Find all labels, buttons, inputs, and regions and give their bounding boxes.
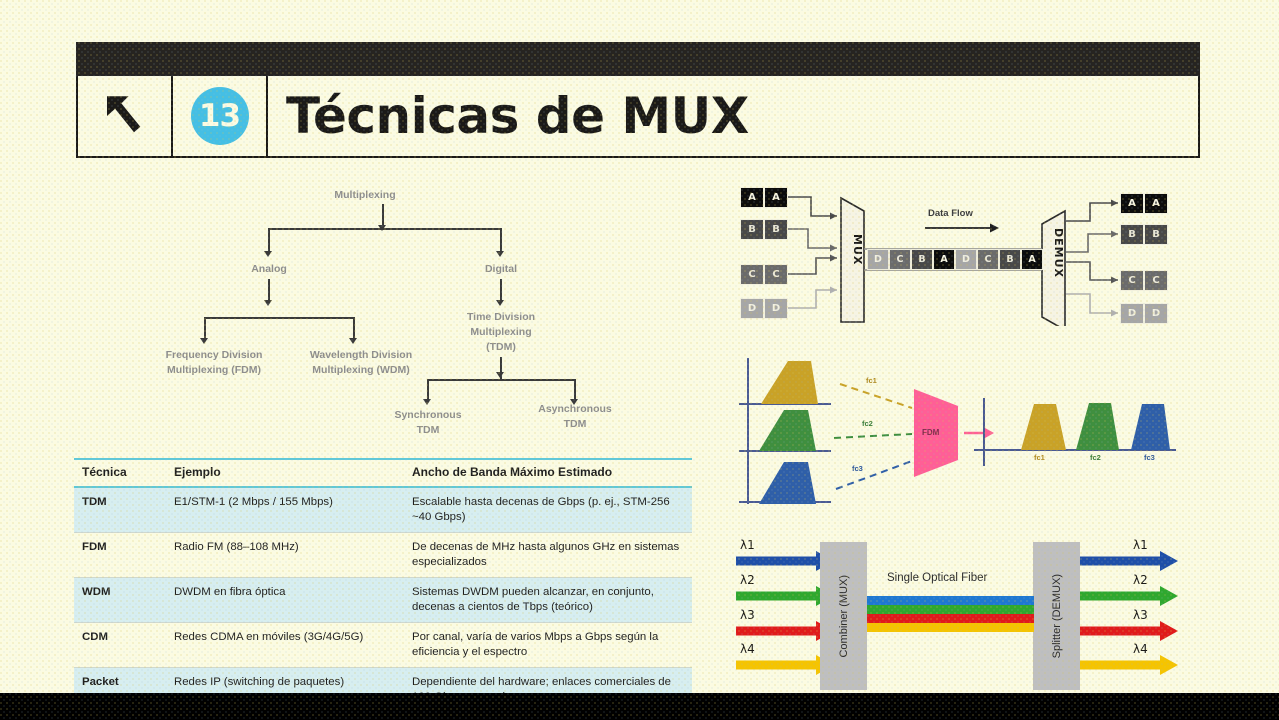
stream-slot: C xyxy=(889,249,911,270)
tree-node-analog: Analog xyxy=(229,262,309,277)
col-header-ancho: Ancho de Banda Máximo Estimado xyxy=(404,459,692,487)
tree-arrow-sync xyxy=(423,399,431,405)
stream-slot: D xyxy=(955,249,977,270)
slide-title-cell: Técnicas de MUX xyxy=(268,76,1198,156)
input-channel-a: AA xyxy=(740,187,788,208)
header-title-bar: 13 Técnicas de MUX xyxy=(76,76,1200,158)
tree-node-digital: Digital xyxy=(461,262,541,277)
fdm-carrier-label-3: fc3 xyxy=(852,464,863,473)
cell-ancho: Escalable hasta decenas de Gbps (p. ej.,… xyxy=(404,487,692,533)
tree-node-fdm: Frequency DivisionMultiplexing (FDM) xyxy=(155,348,273,378)
input-channel-d: DD xyxy=(740,298,788,319)
cell-tecnica: TDM xyxy=(74,487,166,533)
wdm-output-lambda-3: λ3 xyxy=(1133,608,1148,622)
fdm-output-label-3: fc3 xyxy=(1144,453,1155,462)
combiner-mux-bar: Combiner (MUX) xyxy=(820,542,867,690)
cell-tecnica: CDM xyxy=(74,623,166,668)
tree-arrow-digital-stem xyxy=(496,300,504,306)
cell-tecnica: WDM xyxy=(74,578,166,623)
col-header-ejemplo: Ejemplo xyxy=(166,459,404,487)
stream-slot: D xyxy=(867,249,889,270)
wdm-input-lambda-2: λ2 xyxy=(740,573,755,587)
fdm-device-label: FDM xyxy=(922,428,939,437)
demux-label: DEMUX xyxy=(1044,228,1064,278)
input-channel-c: CC xyxy=(740,264,788,285)
tree-edge-analog-stem xyxy=(268,279,270,301)
table-row: WDM DWDM en fibra óptica Sistemas DWDM p… xyxy=(74,578,692,623)
splitter-demux-label: Splitter (DEMUX) xyxy=(1051,574,1063,658)
input-channel-b: BB xyxy=(740,219,788,240)
tree-edge-analog-down xyxy=(268,228,270,252)
table-row: CDM Redes CDMA en móviles (3G/4G/5G) Por… xyxy=(74,623,692,668)
tree-edge-h2 xyxy=(204,317,354,319)
slide-number-cell: 13 xyxy=(173,76,268,156)
stream-slot: A xyxy=(1021,249,1043,270)
header-dark-bar xyxy=(76,42,1200,76)
output-channel-a: AA xyxy=(1120,193,1168,214)
single-optical-fiber-label: Single Optical Fiber xyxy=(887,572,987,584)
multiplexing-tree-diagram: Multiplexing Analog Digital Frequency Di… xyxy=(150,180,720,448)
tree-edge-root-down xyxy=(382,204,384,226)
output-channel-c: CC xyxy=(1120,270,1168,291)
stream-slot: C xyxy=(977,249,999,270)
wdm-fiber-diagram: λ1 λ2 λ3 λ4 λ1 λ2 λ3 λ4 Combiner (MUX) S… xyxy=(722,534,1192,694)
tree-node-sync-tdm: SynchronousTDM xyxy=(383,408,473,438)
tree-edge-wdm-down xyxy=(353,317,355,339)
techniques-table: Técnica Ejemplo Ancho de Banda Máximo Es… xyxy=(74,458,692,714)
data-flow-label: Data Flow xyxy=(928,208,973,219)
fdm-carrier-label-1: fc1 xyxy=(866,376,877,385)
cell-ejemplo: Redes CDMA en móviles (3G/4G/5G) xyxy=(166,623,404,668)
fdm-carrier-label-2: fc2 xyxy=(862,419,873,428)
slide-header: 13 Técnicas de MUX xyxy=(76,42,1200,158)
cell-ancho: Por canal, varía de varios Mbps a Gbps s… xyxy=(404,623,692,668)
back-arrow-icon xyxy=(98,89,152,143)
tree-arrow-tdm-stem xyxy=(496,372,504,378)
wdm-input-lambda-3: λ3 xyxy=(740,608,755,622)
tree-edge-sync-down xyxy=(427,379,429,400)
fdm-svg xyxy=(726,356,1182,504)
table-row: FDM Radio FM (88–108 MHz) De decenas de … xyxy=(74,533,692,578)
combiner-mux-label: Combiner (MUX) xyxy=(838,575,850,658)
tree-edge-fdm-down xyxy=(204,317,206,339)
fdm-output-label-1: fc1 xyxy=(1034,453,1045,462)
bottom-black-bar xyxy=(0,693,1279,720)
fdm-diagram: fc1 fc2 fc3 FDM fc1 fc2 fc3 xyxy=(726,356,1182,504)
wdm-output-lambda-4: λ4 xyxy=(1133,642,1148,656)
tree-edge-digital-stem xyxy=(500,279,502,301)
fdm-output-label-2: fc2 xyxy=(1090,453,1101,462)
tree-node-root: Multiplexing xyxy=(315,188,415,203)
wdm-output-lambda-1: λ1 xyxy=(1133,538,1148,552)
output-channel-d: DD xyxy=(1120,303,1168,324)
wdm-svg xyxy=(722,534,1192,694)
mux-demux-diagram: MUX DEMUX Data Flow AA BB CC DD AA BB CC… xyxy=(736,186,1182,326)
stream-slot: A xyxy=(933,249,955,270)
tree-edge-digital-down xyxy=(500,228,502,252)
splitter-demux-bar: Splitter (DEMUX) xyxy=(1033,542,1080,690)
stream-slot: B xyxy=(911,249,933,270)
tree-edge-async-down xyxy=(574,379,576,400)
tree-edge-h3 xyxy=(427,379,575,381)
tree-node-wdm: Wavelength DivisionMultiplexing (WDM) xyxy=(302,348,420,378)
tree-node-tdm: Time DivisionMultiplexing(TDM) xyxy=(441,310,561,356)
cell-ejemplo: DWDM en fibra óptica xyxy=(166,578,404,623)
tree-edge-h1 xyxy=(268,228,502,230)
cell-tecnica: FDM xyxy=(74,533,166,578)
multiplexed-stream: D C B A D C B A xyxy=(867,249,1043,270)
cell-ancho: De decenas de MHz hasta algunos GHz en s… xyxy=(404,533,692,578)
col-header-tecnica: Técnica xyxy=(74,459,166,487)
cell-ejemplo: Radio FM (88–108 MHz) xyxy=(166,533,404,578)
tree-arrow-digital xyxy=(496,251,504,257)
tree-arrow-fdm xyxy=(200,338,208,344)
wdm-input-lambda-4: λ4 xyxy=(740,642,755,656)
output-channel-b: BB xyxy=(1120,224,1168,245)
tree-node-async-tdm: AsynchronousTDM xyxy=(530,402,620,432)
back-arrow-cell[interactable] xyxy=(78,76,173,156)
page-title: Técnicas de MUX xyxy=(286,87,749,145)
tree-arrow-wdm xyxy=(349,338,357,344)
table-row: TDM E1/STM-1 (2 Mbps / 155 Mbps) Escalab… xyxy=(74,487,692,533)
mux-label: MUX xyxy=(843,234,863,265)
tree-arrow-analog-stem xyxy=(264,300,272,306)
cell-ejemplo: E1/STM-1 (2 Mbps / 155 Mbps) xyxy=(166,487,404,533)
stream-slot: B xyxy=(999,249,1021,270)
wdm-output-lambda-2: λ2 xyxy=(1133,573,1148,587)
slide-number-badge: 13 xyxy=(191,87,249,145)
cell-ancho: Sistemas DWDM pueden alcanzar, en conjun… xyxy=(404,578,692,623)
wdm-input-lambda-1: λ1 xyxy=(740,538,755,552)
tree-arrow-analog xyxy=(264,251,272,257)
table-header-row: Técnica Ejemplo Ancho de Banda Máximo Es… xyxy=(74,459,692,487)
